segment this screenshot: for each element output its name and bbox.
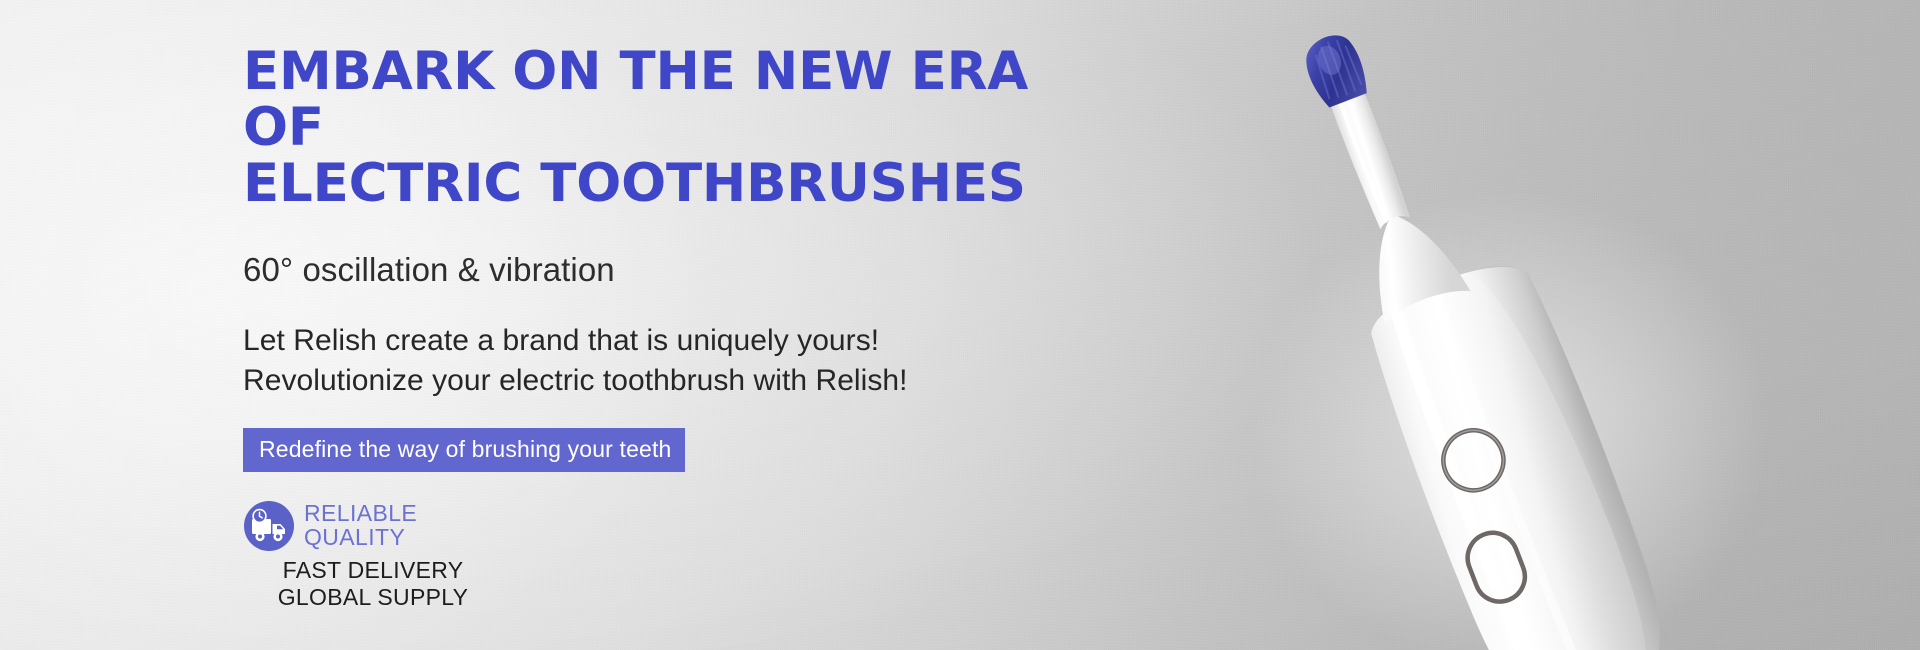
banner-content: EMBARK ON THE NEW ERA OF ELECTRIC TOOTHB… [243, 44, 1103, 472]
trust-line-quality: QUALITY [304, 526, 417, 550]
trust-badge-text: RELIABLE QUALITY [304, 502, 417, 550]
trust-badge-footer: FAST DELIVERY GLOBAL SUPPLY [243, 557, 503, 611]
trust-badge-top-row: RELIABLE QUALITY [243, 500, 503, 552]
trust-line-reliable: RELIABLE [304, 502, 417, 526]
cta-button-redefine-brushing[interactable]: Redefine the way of brushing your teeth [243, 428, 685, 471]
headline: EMBARK ON THE NEW ERA OF ELECTRIC TOOTHB… [243, 44, 1103, 213]
trust-badge-block: RELIABLE QUALITY FAST DELIVERY GLOBAL SU… [243, 500, 503, 611]
body-copy: Let Relish create a brand that is unique… [243, 289, 1103, 401]
promo-banner: EMBARK ON THE NEW ERA OF ELECTRIC TOOTHB… [0, 0, 1920, 650]
delivery-truck-clock-icon [243, 500, 295, 552]
subheadline: 60° oscillation & vibration [243, 213, 1103, 290]
